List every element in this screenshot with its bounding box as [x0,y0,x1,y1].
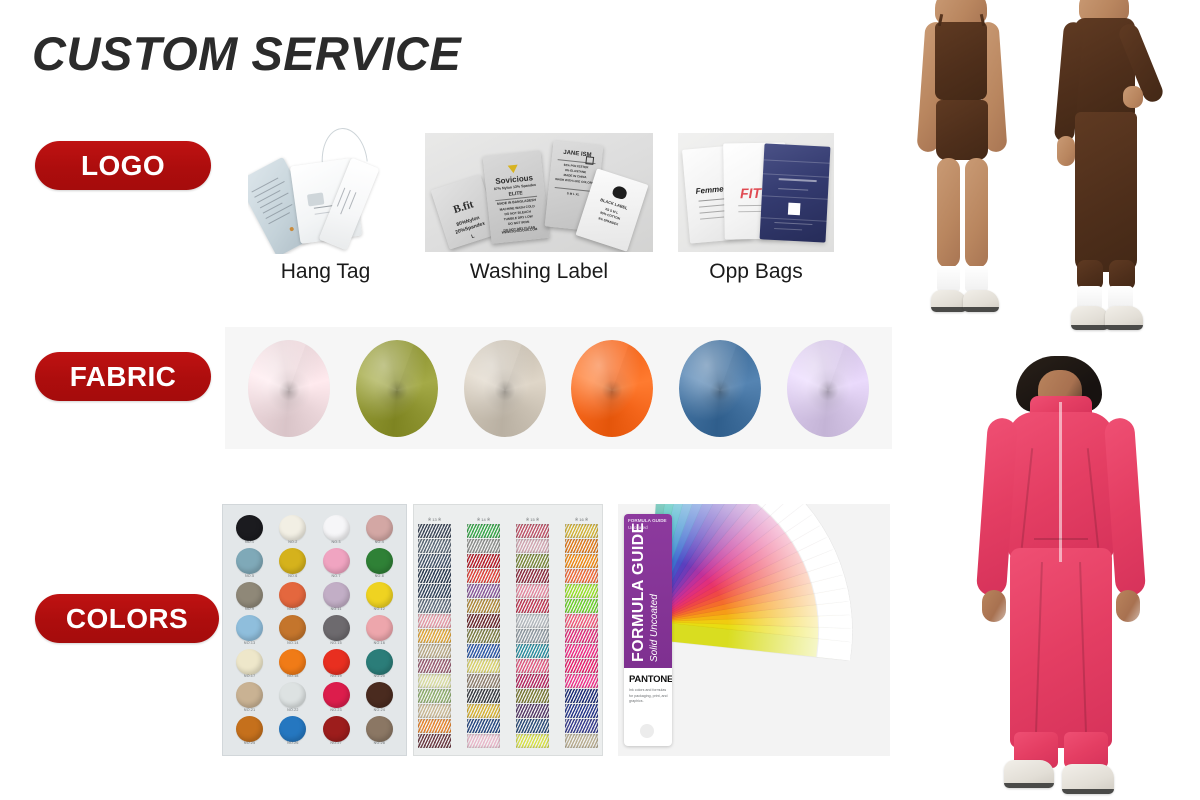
thread-swatch [516,539,549,553]
color-swatch-label: NO.23 [318,708,355,712]
color-swatch-cell: NO.20 [361,649,398,678]
color-swatch-dot [323,716,350,742]
color-swatch-cell: NO.9 [231,582,268,611]
color-swatch-cell: NO.12 [361,582,398,611]
color-swatch-dot [323,548,350,574]
color-swatch-label: NO.5 [231,574,268,578]
color-swatch-dot [366,582,393,608]
fabric-highlight [248,340,330,437]
fabric-swatch-denim-blue [679,340,761,437]
color-swatch-label: NO.9 [231,607,268,611]
section-badge-logo: LOGO [35,141,211,190]
color-swatch-dot [279,682,306,708]
color-swatch-dot [366,716,393,742]
color-swatch-label: NO.21 [231,708,268,712]
thread-swatch [467,644,500,658]
color-swatch-label: NO.17 [231,674,268,678]
thread-swatch [565,644,598,658]
color-swatch-dot [236,682,263,708]
color-swatch-label: NO.6 [274,574,311,578]
fabric-highlight [464,340,546,437]
thread-swatch [516,644,549,658]
color-swatch-cell: NO.5 [231,548,268,577]
color-swatch-dot [279,582,306,608]
thread-swatch [467,539,500,553]
thread-swatch [516,569,549,583]
color-swatch-dot [366,515,393,541]
color-swatch-cell: NO.16 [361,615,398,644]
thread-swatch [516,719,549,733]
thread-column: ※ 16 ※ [565,517,598,749]
color-swatch-cell: NO.28 [361,716,398,745]
color-swatch-label: NO.18 [274,674,311,678]
opp-bag-fit-label: FIT [740,185,761,201]
thread-column-header: ※ 15 ※ [516,517,549,522]
color-swatch-cell: NO.27 [318,716,355,745]
color-swatch-grid: NO.1NO.2NO.3NO.4NO.5NO.6NO.7NO.8NO.9NO.1… [231,515,398,745]
color-swatch-label: NO.26 [274,741,311,745]
thread-swatch [565,539,598,553]
fabric-color-chart-card: NO.1NO.2NO.3NO.4NO.5NO.6NO.7NO.8NO.9NO.1… [222,504,407,756]
thread-swatch [418,554,451,568]
hang-tag-photo [248,126,403,254]
color-swatch-label: NO.3 [318,540,355,544]
thread-swatch [467,629,500,643]
thread-swatch [418,674,451,688]
thread-swatch [516,674,549,688]
thread-swatch [418,629,451,643]
color-swatch-dot [236,515,263,541]
thread-swatch [467,689,500,703]
color-swatch-cell: NO.2 [274,515,311,544]
color-swatch-label: NO.8 [361,574,398,578]
caption-opp-bags: Opp Bags [678,260,834,284]
color-swatch-cell: NO.14 [274,615,311,644]
color-swatch-dot [323,515,350,541]
thread-color-card: ※ 13 ※※ 14 ※※ 15 ※※ 16 ※ [413,504,603,756]
thread-column-header: ※ 16 ※ [565,517,598,522]
thread-swatch [516,659,549,673]
thread-swatch [418,659,451,673]
pantone-fan-deck-card: FORMULA GUIDE Uncoated FORMULA GUIDE Sol… [618,504,890,756]
thread-column: ※ 13 ※ [418,517,451,749]
thread-swatch [565,704,598,718]
fabric-swatch-pale-pink [248,340,330,437]
color-swatch-dot [236,649,263,675]
thread-swatch [516,524,549,538]
color-swatch-cell: NO.10 [274,582,311,611]
thread-swatch [467,659,500,673]
thread-swatch [565,659,598,673]
color-swatch-cell: NO.13 [231,615,268,644]
fabric-highlight [356,340,438,437]
color-swatch-dot [279,515,306,541]
color-swatch-label: NO.24 [361,708,398,712]
badge-label-colors: COLORS [66,603,188,635]
thread-swatch [418,539,451,553]
color-swatch-dot [323,682,350,708]
color-swatch-cell: NO.19 [318,649,355,678]
thread-column: ※ 14 ※ [467,517,500,749]
fabric-swatch-orange-mesh [571,340,653,437]
thread-swatch [565,614,598,628]
color-swatch-cell: NO.26 [274,716,311,745]
pantone-rivet-icon [640,724,654,738]
color-swatch-cell: NO.17 [231,649,268,678]
fabric-swatch-olive-green [356,340,438,437]
color-swatch-label: NO.10 [274,607,311,611]
custom-service-page: CUSTOM SERVICE LOGO Hang Tag [0,0,1200,800]
color-swatch-cell: NO.7 [318,548,355,577]
thread-column-header: ※ 13 ※ [418,517,451,522]
thread-swatch [418,524,451,538]
thread-swatch [565,674,598,688]
thread-swatch [418,719,451,733]
color-swatch-label: NO.16 [361,641,398,645]
thread-column: ※ 15 ※ [516,517,549,749]
color-swatch-cell: NO.18 [274,649,311,678]
thread-swatch [418,704,451,718]
color-swatch-label: NO.11 [318,607,355,611]
thread-swatch [516,614,549,628]
thread-swatch [565,689,598,703]
color-swatch-dot [366,649,393,675]
color-swatch-label: NO.25 [231,741,268,745]
color-swatch-cell: NO.21 [231,682,268,711]
color-swatch-label: NO.12 [361,607,398,611]
color-swatch-label: NO.7 [318,574,355,578]
pantone-vertical-title: FORMULA GUIDE Solid Uncoated [630,522,660,662]
thread-swatch [418,689,451,703]
thread-swatch [565,629,598,643]
thread-swatch [516,689,549,703]
thread-swatch [418,644,451,658]
color-swatch-label: NO.1 [231,540,268,544]
color-swatch-dot [279,716,306,742]
color-swatch-dot [323,649,350,675]
washing-label-sovicious: Sovicious 87% Nylon 13% Spandex ELITE MA… [483,150,550,244]
thread-swatch [467,674,500,688]
thread-column-group: ※ 13 ※※ 14 ※※ 15 ※※ 16 ※ [418,517,598,749]
color-swatch-cell: NO.11 [318,582,355,611]
thread-swatch [565,524,598,538]
caption-washing-label: Washing Label [425,260,653,284]
thread-swatch [467,524,500,538]
color-swatch-label: NO.2 [274,540,311,544]
fabric-swatch-beige-taupe [464,340,546,437]
color-swatch-cell: NO.22 [274,682,311,711]
color-swatch-dot [366,615,393,641]
thread-swatch [516,734,549,748]
color-swatch-cell: NO.6 [274,548,311,577]
thread-swatch [418,599,451,613]
pantone-brand-logo: PANTONE® [629,674,672,685]
color-swatch-dot [236,615,263,641]
pantone-leaf-tab [816,639,852,660]
color-swatch-cell: NO.1 [231,515,268,544]
thread-swatch [565,569,598,583]
fabric-highlight [679,340,761,437]
opp-bag-navy [760,143,831,242]
thread-swatch [565,599,598,613]
thread-swatch [565,719,598,733]
thread-column-header: ※ 14 ※ [467,517,500,522]
thread-swatch [418,614,451,628]
color-swatch-label: NO.15 [318,641,355,645]
thread-swatch [516,584,549,598]
fabric-highlight [787,340,869,437]
jumpsuit-legs [1010,548,1112,748]
thread-swatch [467,719,500,733]
color-swatch-label: NO.22 [274,708,311,712]
pantone-spine: FORMULA GUIDE Uncoated FORMULA GUIDE Sol… [624,514,672,746]
thread-swatch [418,734,451,748]
color-swatch-dot [323,582,350,608]
pantone-note: Ink colors and formulas for packaging, p… [629,688,668,705]
color-swatch-dot [236,548,263,574]
color-swatch-dot [236,716,263,742]
thread-swatch [516,554,549,568]
washing-label-photo: B.fit 80%Nylon 20%Spandex L Sovicious 87… [425,133,653,252]
fabric-swatch-lavender [787,340,869,437]
color-swatch-dot [279,548,306,574]
color-swatch-dot [366,682,393,708]
pantone-fan-leaves [646,510,890,754]
caption-hang-tag: Hang Tag [248,260,403,284]
color-swatch-label: NO.4 [361,540,398,544]
thread-swatch [565,584,598,598]
thread-swatch [516,629,549,643]
thread-swatch [565,554,598,568]
color-swatch-label: NO.28 [361,741,398,745]
fabric-swatch-row [225,327,892,449]
thread-swatch [467,614,500,628]
color-swatch-cell: NO.4 [361,515,398,544]
thread-swatch [418,584,451,598]
color-swatch-dot [236,582,263,608]
thread-swatch [467,704,500,718]
color-swatch-cell: NO.24 [361,682,398,711]
opp-bags-photo: Femme'Fit FIT [678,133,834,252]
color-swatch-cell: NO.25 [231,716,268,745]
section-badge-colors: COLORS [35,594,219,643]
thread-swatch [467,584,500,598]
fabric-swatch-panel [225,327,892,449]
thread-swatch [418,569,451,583]
color-swatch-label: NO.19 [318,674,355,678]
color-swatch-dot [279,615,306,641]
color-swatch-label: NO.13 [231,641,268,645]
color-swatch-cell: NO.8 [361,548,398,577]
badge-label-logo: LOGO [81,150,165,182]
thread-swatch [467,734,500,748]
section-badge-fabric: FABRIC [35,352,211,401]
badge-label-fabric: FABRIC [70,361,177,393]
color-swatch-cell: NO.3 [318,515,355,544]
thread-swatch [467,569,500,583]
color-swatch-label: NO.14 [274,641,311,645]
color-swatch-label: NO.27 [318,741,355,745]
color-swatch-dot [366,548,393,574]
fabric-highlight [571,340,653,437]
color-swatch-label: NO.20 [361,674,398,678]
color-swatch-cell: NO.15 [318,615,355,644]
thread-swatch [565,734,598,748]
color-swatch-dot [279,649,306,675]
thread-swatch [516,599,549,613]
thread-swatch [467,599,500,613]
thread-swatch [516,704,549,718]
model-photo-pink-jumpsuit [930,352,1200,800]
color-swatch-dot [323,615,350,641]
model-photo-brown-sets [905,0,1200,352]
page-title: CUSTOM SERVICE [32,26,461,81]
thread-swatch [467,554,500,568]
color-swatch-cell: NO.23 [318,682,355,711]
